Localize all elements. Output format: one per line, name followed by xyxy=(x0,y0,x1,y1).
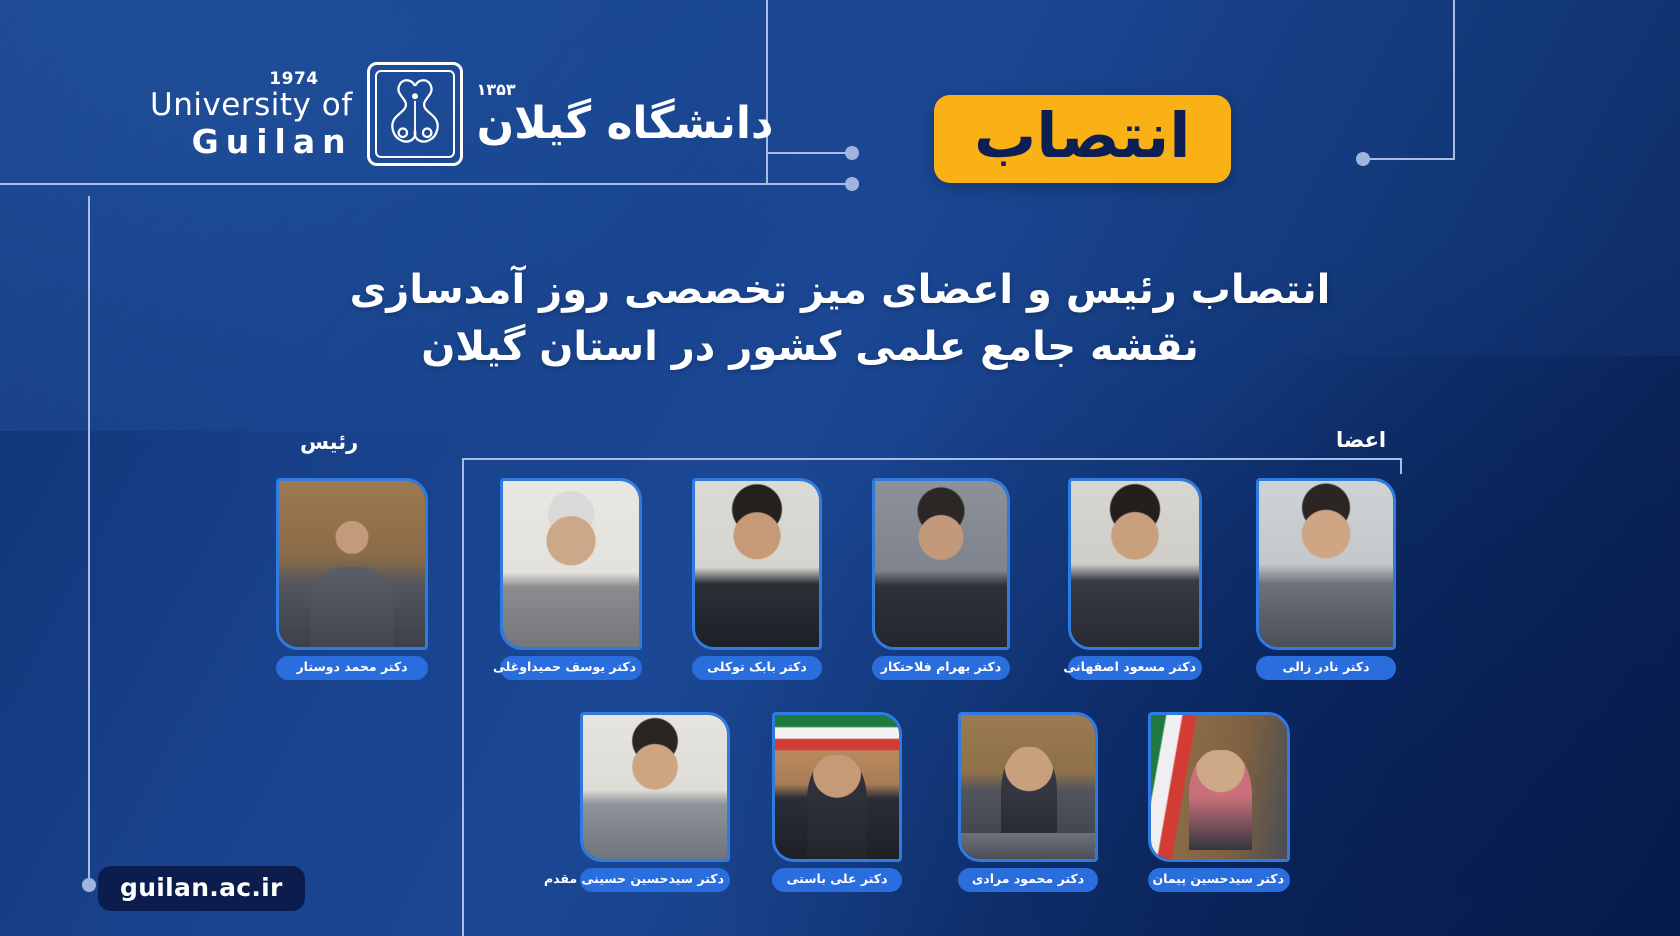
logo-latin-year: 1974 xyxy=(150,71,319,88)
deco-dot-right xyxy=(1356,152,1370,166)
logo-persian-name: دانشگاه گیلان xyxy=(477,102,774,146)
photo-image xyxy=(875,481,1007,647)
person-name-caption: دکتر یوسف حمیداوغلی xyxy=(500,656,642,680)
person-name-caption: دکتر علی باستی xyxy=(772,868,902,892)
person-photo xyxy=(872,478,1010,650)
person-photo xyxy=(958,712,1098,862)
person-name-caption: دکتر سیدحسین حسینی مقدم xyxy=(580,868,730,892)
section-label-chair: رئیس xyxy=(300,430,358,454)
person-card-member-7: دکتر علی باستی xyxy=(772,712,902,892)
photo-table-shape xyxy=(961,833,1095,859)
person-card-member-2: دکتر بابک توکلی xyxy=(692,478,822,680)
person-photo xyxy=(276,478,428,650)
photo-image xyxy=(503,481,639,647)
appointment-badge: انتصاب xyxy=(934,95,1231,183)
person-card-member-1: دکتر یوسف حمیداوغلی xyxy=(500,478,642,680)
deco-dot-footer xyxy=(82,878,96,892)
photo-image xyxy=(583,715,727,859)
deco-line-horizontal-lower xyxy=(0,183,770,185)
person-name-caption: دکتر بهرام فلاحتکار xyxy=(872,656,1010,680)
guilan-university-emblem-icon xyxy=(367,62,463,166)
photo-image xyxy=(1259,481,1393,647)
logo-latin-text: 1974 University of Guilan xyxy=(150,71,353,158)
photo-image xyxy=(1071,481,1199,647)
person-name-caption: دکتر نادر زالی xyxy=(1256,656,1396,680)
deco-line-vertical-right xyxy=(1453,0,1455,160)
person-photo xyxy=(1068,478,1202,650)
website-badge[interactable]: guilan.ac.ir xyxy=(98,866,305,911)
photo-image xyxy=(695,481,819,647)
photo-person-shape xyxy=(1189,750,1252,851)
person-card-member-5: دکتر نادر زالی xyxy=(1256,478,1396,680)
university-logo: 1974 University of Guilan ۱۳۵۳ دانشگاه گ… xyxy=(150,62,774,166)
deco-line-to-dot-upper xyxy=(766,152,848,154)
person-card-chair: دکتر محمد دوستار xyxy=(276,478,428,680)
logo-persian-year: ۱۳۵۳ xyxy=(477,82,774,98)
deco-line-vertical-center-body xyxy=(462,458,464,936)
logo-latin-line2: Guilan xyxy=(150,125,353,158)
page-title: انتصاب رئیس و اعضای میز تخصصی روز آمدساز… xyxy=(0,262,1680,376)
deco-line-members-bracket-right xyxy=(1400,458,1402,474)
person-photo xyxy=(580,712,730,862)
deco-line-to-dot-lower xyxy=(766,183,848,185)
person-photo xyxy=(772,712,902,862)
person-name-caption: دکتر مسعود اصفهانی xyxy=(1068,656,1202,680)
section-label-members: اعضا xyxy=(1336,428,1386,452)
photo-person-shape xyxy=(807,755,867,859)
person-photo xyxy=(1148,712,1290,862)
deco-line-horizontal-right xyxy=(1368,158,1455,160)
deco-line-members-bracket xyxy=(462,458,1402,460)
person-name-caption: دکتر سیدحسین پیمان xyxy=(1148,868,1290,892)
logo-persian-text: ۱۳۵۳ دانشگاه گیلان xyxy=(477,82,774,146)
photo-suit-shape xyxy=(311,567,393,647)
person-card-member-9: دکتر سیدحسین پیمان xyxy=(1148,712,1290,892)
page-title-line1: انتصاب رئیس و اعضای میز تخصصی روز آمدساز… xyxy=(0,262,1680,319)
page-title-line2: نقشه جامع علمی کشور در استان گیلان xyxy=(0,319,1680,376)
person-name-caption: دکتر محمود مرادی xyxy=(958,868,1098,892)
person-name-caption: دکتر بابک توکلی xyxy=(692,656,822,680)
person-card-member-8: دکتر محمود مرادی xyxy=(958,712,1098,892)
logo-latin-line1: University of xyxy=(150,90,353,121)
person-photo xyxy=(692,478,822,650)
person-card-member-6: دکتر سیدحسین حسینی مقدم xyxy=(580,712,730,892)
person-card-member-4: دکتر مسعود اصفهانی xyxy=(1068,478,1202,680)
person-photo xyxy=(1256,478,1396,650)
person-card-member-3: دکتر بهرام فلاحتکار xyxy=(872,478,1010,680)
person-name-caption: دکتر محمد دوستار xyxy=(276,656,428,680)
person-photo xyxy=(500,478,642,650)
